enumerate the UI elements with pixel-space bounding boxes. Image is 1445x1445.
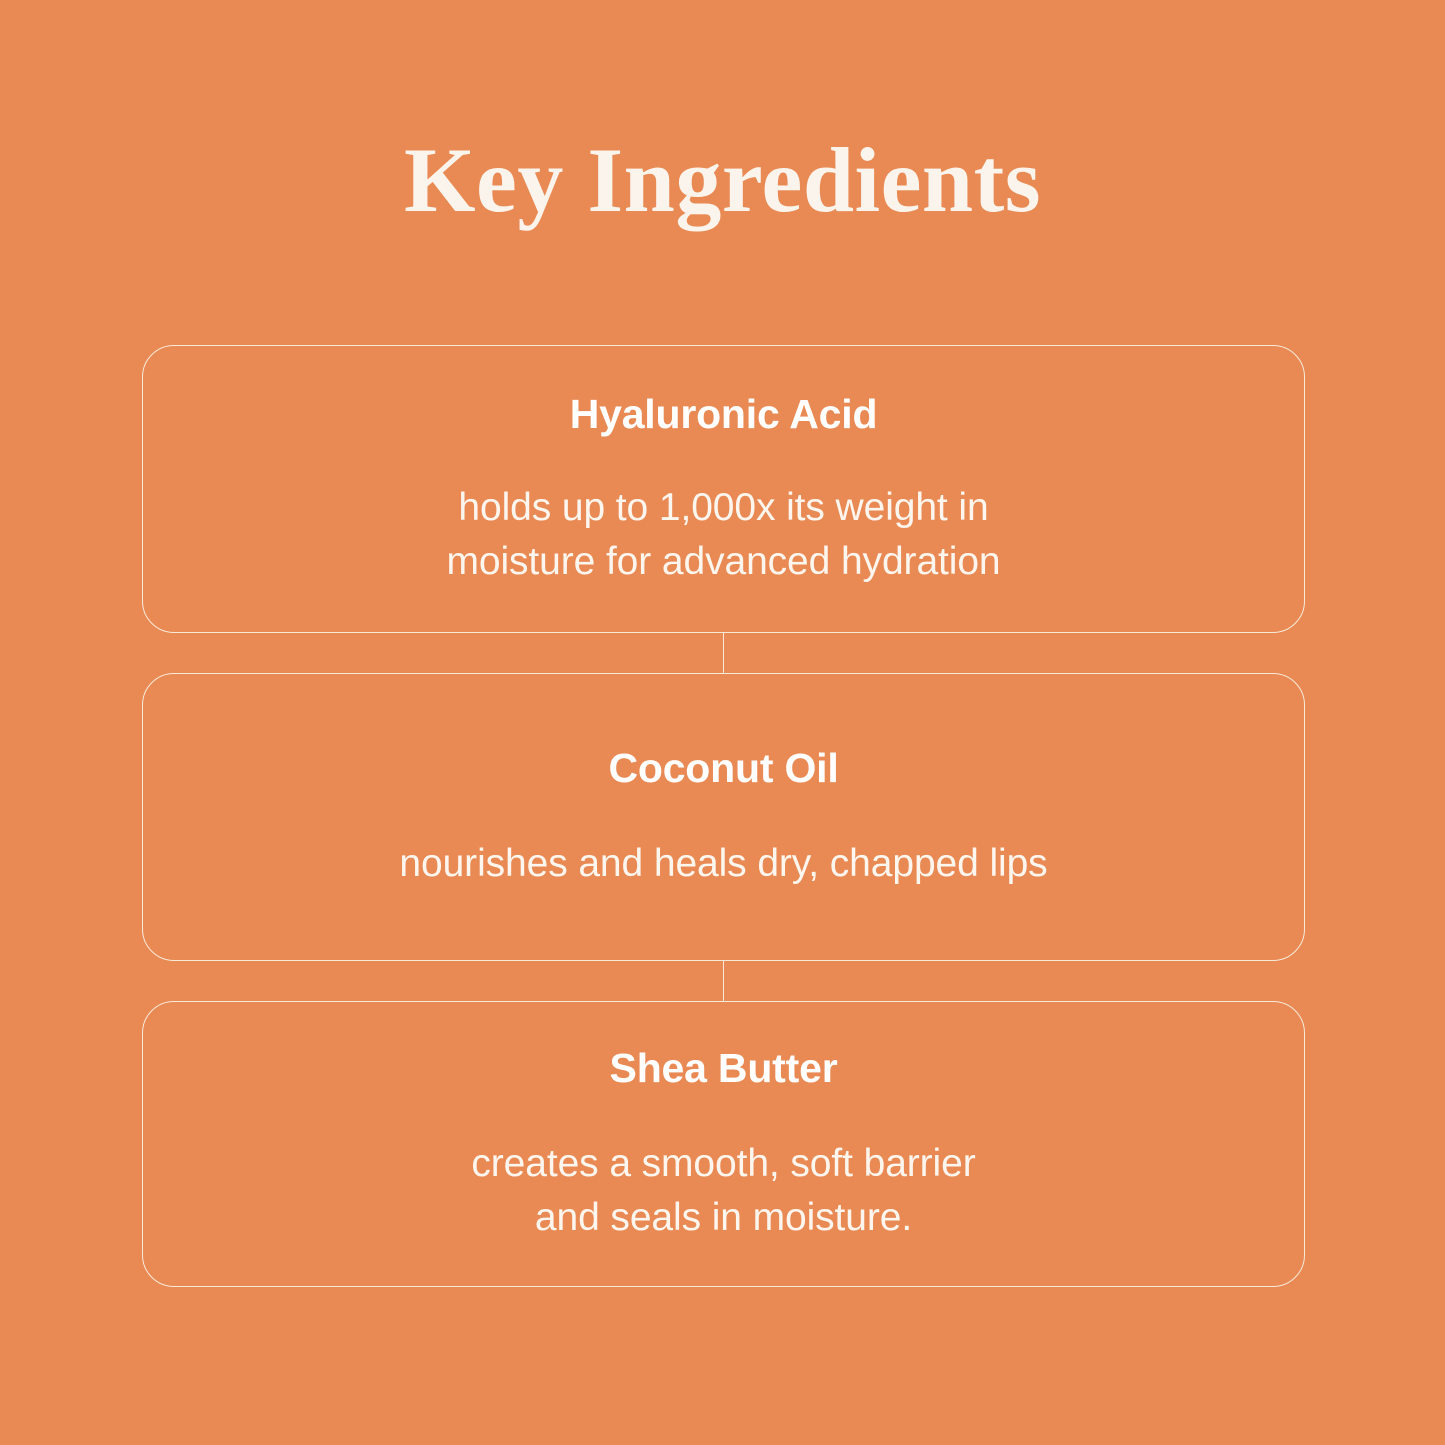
ingredient-card-coconut-oil[interactable]: Coconut Oil nourishes and heals dry, cha… xyxy=(142,673,1305,961)
ingredient-description: nourishes and heals dry, chapped lips xyxy=(399,837,1047,891)
connector-line-icon xyxy=(723,961,725,1001)
connector-card2-card3 xyxy=(142,961,1305,1001)
connector-line-icon xyxy=(723,633,725,673)
key-ingredients-infographic: Key Ingredients Hyaluronic Acid holds up… xyxy=(0,0,1445,1445)
ingredient-heading: Shea Butter xyxy=(610,1044,838,1093)
ingredient-card-hyaluronic-acid[interactable]: Hyaluronic Acid holds up to 1,000x its w… xyxy=(142,345,1305,633)
connector-card1-card2 xyxy=(142,633,1305,673)
ingredient-description: holds up to 1,000x its weight in moistur… xyxy=(446,481,1000,589)
ingredient-heading: Coconut Oil xyxy=(608,744,838,793)
page-title: Key Ingredients xyxy=(0,132,1445,229)
page-title-container: Key Ingredients xyxy=(0,132,1445,229)
ingredient-card-stack: Hyaluronic Acid holds up to 1,000x its w… xyxy=(142,345,1305,1287)
ingredient-description: creates a smooth, soft barrier and seals… xyxy=(471,1137,975,1245)
ingredient-heading: Hyaluronic Acid xyxy=(570,390,878,439)
ingredient-card-shea-butter[interactable]: Shea Butter creates a smooth, soft barri… xyxy=(142,1001,1305,1287)
